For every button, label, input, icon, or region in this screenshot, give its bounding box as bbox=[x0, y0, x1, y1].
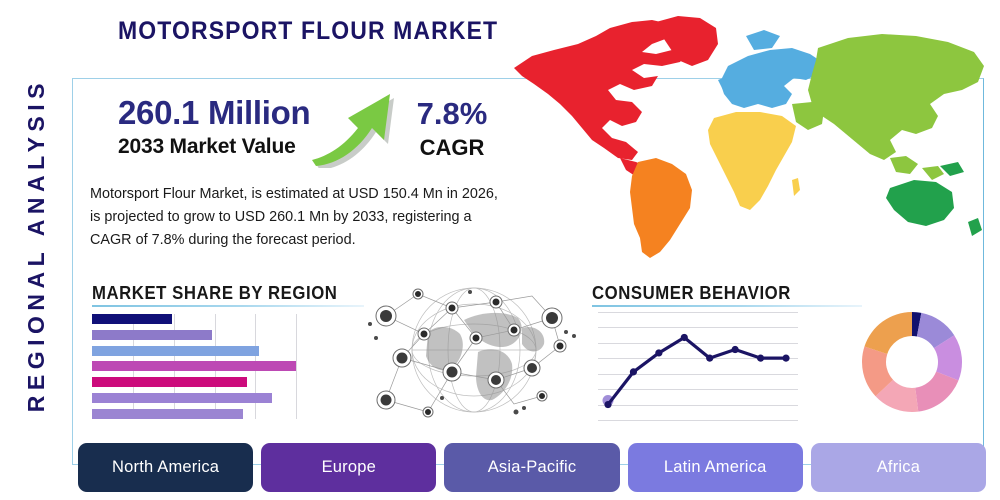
line-chart-point bbox=[732, 346, 739, 353]
line-chart-point bbox=[782, 355, 789, 362]
bar-chart-bar bbox=[92, 409, 243, 419]
bar-chart-bar bbox=[92, 361, 296, 371]
line-chart-point bbox=[757, 355, 764, 362]
bar-chart-bar bbox=[92, 393, 272, 403]
region-button-asia-pacific[interactable]: Asia-Pacific bbox=[444, 443, 619, 492]
bar-chart-bar bbox=[92, 314, 172, 324]
stat-cagr: 7.8% CAGR bbox=[406, 98, 498, 159]
side-label-text: REGIONAL ANALYSIS bbox=[23, 78, 50, 412]
map-region-oceania bbox=[886, 180, 954, 226]
region-button-north-america[interactable]: North America bbox=[78, 443, 253, 492]
line-chart-point bbox=[630, 368, 637, 375]
bar-chart-bars bbox=[92, 314, 337, 419]
side-label: REGIONAL ANALYSIS bbox=[14, 70, 58, 420]
region-donut-chart bbox=[858, 308, 966, 416]
bar-chart-bar bbox=[92, 377, 247, 387]
bar-chart-bar bbox=[92, 330, 212, 340]
line-chart-point bbox=[604, 401, 611, 408]
market-share-bar-chart bbox=[92, 314, 337, 419]
stat-cagr-number: 7.8% bbox=[406, 98, 498, 129]
consumer-behavior-rule bbox=[592, 305, 862, 307]
region-button-europe[interactable]: Europe bbox=[261, 443, 436, 492]
map-region-southeast-asia bbox=[890, 156, 944, 180]
line-chart-point bbox=[706, 355, 713, 362]
market-share-rule bbox=[92, 305, 364, 307]
line-chart-point bbox=[655, 349, 662, 356]
line-gridline bbox=[598, 420, 798, 421]
page-title: MOTORSPORT FLOUR MARKET bbox=[118, 17, 498, 46]
map-region-south-america bbox=[630, 158, 692, 258]
global-network-globe-icon bbox=[356, 276, 592, 424]
region-button-group: North AmericaEuropeAsia-PacificLatin Ame… bbox=[78, 443, 986, 492]
consumer-behavior-heading: CONSUMER BEHAVIOR bbox=[592, 283, 791, 304]
stat-market-value-number: 260.1 Million bbox=[118, 96, 310, 129]
market-share-heading: MARKET SHARE BY REGION bbox=[92, 283, 337, 304]
description-text: Motorsport Flour Market, is estimated at… bbox=[90, 183, 510, 252]
stat-cagr-caption: CAGR bbox=[406, 137, 498, 159]
map-region-new-zealand bbox=[968, 218, 982, 236]
stat-market-value: 260.1 Million 2033 Market Value bbox=[118, 96, 310, 157]
stat-market-value-caption: 2033 Market Value bbox=[118, 136, 310, 157]
region-button-latin-america[interactable]: Latin America bbox=[628, 443, 803, 492]
growth-arrow-icon bbox=[306, 88, 402, 168]
world-map bbox=[492, 8, 1000, 266]
bar-chart-bar bbox=[92, 346, 259, 356]
consumer-behavior-line-chart bbox=[598, 312, 798, 420]
map-region-madagascar bbox=[792, 178, 800, 196]
line-chart-point bbox=[681, 334, 688, 341]
map-region-europe bbox=[720, 48, 822, 108]
region-button-africa[interactable]: Africa bbox=[811, 443, 986, 492]
map-region-africa bbox=[708, 112, 796, 210]
map-region-asia bbox=[808, 34, 984, 160]
donut-segment bbox=[864, 312, 912, 354]
infographic-canvas: REGIONAL ANALYSIS MOTORSPORT FLOUR MARKE… bbox=[0, 0, 1000, 500]
line-chart-plot bbox=[598, 312, 798, 420]
